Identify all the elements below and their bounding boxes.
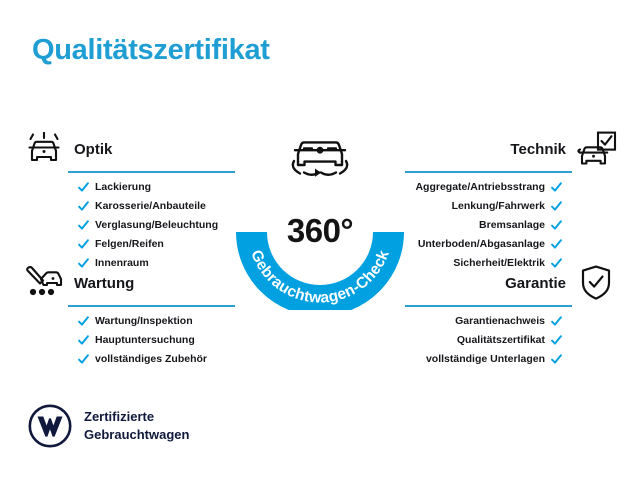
section-technik-divider — [405, 171, 572, 173]
wrench-car-icon — [20, 262, 68, 304]
car-checkbox-icon — [572, 128, 620, 170]
list-item: Unterboden/Abgasanlage — [405, 239, 562, 250]
section-technik-title: Technik — [405, 141, 572, 158]
brand-line-2: Gebrauchtwagen — [84, 427, 189, 442]
list-item: Felgen/Reifen — [78, 239, 235, 250]
section-optik-header: Optik — [20, 128, 235, 170]
list-item-label: Lenkung/Fahrwerk — [452, 201, 545, 212]
section-garantie: Garantie Garantienachweis Qualitätszerti… — [405, 262, 620, 373]
section-optik: Optik Lackierung Karosserie/Anbauteile V… — [20, 128, 235, 277]
list-item: Wartung/Inspektion — [78, 316, 235, 327]
brand-line-1: Zertifizierte — [84, 409, 154, 424]
list-item-label: vollständiges Zubehör — [95, 354, 207, 365]
section-garantie-header: Garantie — [405, 262, 620, 304]
list-item-label: Aggregate/Antriebsstrang — [415, 182, 545, 193]
check-icon — [78, 316, 89, 327]
section-optik-list: Lackierung Karosserie/Anbauteile Verglas… — [20, 182, 235, 269]
badge-number: 360° — [232, 212, 408, 250]
section-garantie-title: Garantie — [405, 275, 572, 292]
section-wartung-divider — [68, 305, 235, 307]
section-technik-list: Aggregate/Antriebsstrang Lenkung/Fahrwer… — [405, 182, 620, 269]
badge-360-gebrauchtwagen-check: Gebrauchtwagen-Check 360° — [232, 120, 408, 310]
check-icon — [78, 335, 89, 346]
vw-logo-icon — [28, 404, 72, 448]
list-item: vollständiges Zubehör — [78, 354, 235, 365]
brand-label: Zertifizierte Gebrauchtwagen — [84, 408, 189, 443]
check-icon — [78, 201, 89, 212]
check-icon — [551, 316, 562, 327]
check-icon — [551, 201, 562, 212]
list-item-label: Wartung/Inspektion — [95, 316, 193, 327]
list-item: Lenkung/Fahrwerk — [405, 201, 562, 212]
section-technik: Technik Aggregate/Antriebsstrang Lenkung… — [405, 128, 620, 277]
list-item: Garantienachweis — [405, 316, 562, 327]
shield-check-icon — [572, 262, 620, 304]
list-item: Aggregate/Antriebsstrang — [405, 182, 562, 193]
list-item: Karosserie/Anbauteile — [78, 201, 235, 212]
section-wartung-title: Wartung — [68, 275, 235, 292]
check-icon — [78, 239, 89, 250]
list-item: Qualitätszertifikat — [405, 335, 562, 346]
section-wartung: Wartung Wartung/Inspektion Hauptuntersuc… — [20, 262, 235, 373]
section-optik-divider — [68, 171, 235, 173]
check-icon — [551, 335, 562, 346]
list-item: Hauptuntersuchung — [78, 335, 235, 346]
list-item-label: Unterboden/Abgasanlage — [418, 239, 545, 250]
list-item-label: Karosserie/Anbauteile — [95, 201, 206, 212]
list-item-label: Verglasung/Beleuchtung — [95, 220, 218, 231]
list-item-label: vollständige Unterlagen — [426, 354, 545, 365]
section-garantie-divider — [405, 305, 572, 307]
check-icon — [551, 354, 562, 365]
check-icon — [551, 239, 562, 250]
check-icon — [551, 220, 562, 231]
section-technik-header: Technik — [405, 128, 620, 170]
section-wartung-header: Wartung — [20, 262, 235, 304]
list-item-label: Felgen/Reifen — [95, 239, 164, 250]
list-item: Verglasung/Beleuchtung — [78, 220, 235, 231]
brand-footer: Zertifizierte Gebrauchtwagen — [28, 404, 189, 448]
list-item-label: Hauptuntersuchung — [95, 335, 195, 346]
page-title: Qualitätszertifikat — [32, 34, 270, 67]
check-icon — [78, 220, 89, 231]
car-shine-icon — [20, 128, 68, 170]
list-item: vollständige Unterlagen — [405, 354, 562, 365]
list-item-label: Lackierung — [95, 182, 151, 193]
list-item: Bremsanlage — [405, 220, 562, 231]
list-item-label: Qualitätszertifikat — [457, 335, 545, 346]
list-item-label: Bremsanlage — [479, 220, 545, 231]
section-wartung-list: Wartung/Inspektion Hauptuntersuchung vol… — [20, 316, 235, 365]
check-icon — [551, 182, 562, 193]
section-optik-title: Optik — [68, 141, 235, 158]
list-item-label: Garantienachweis — [455, 316, 545, 327]
check-icon — [78, 182, 89, 193]
section-garantie-list: Garantienachweis Qualitätszertifikat vol… — [405, 316, 620, 365]
list-item: Lackierung — [78, 182, 235, 193]
check-icon — [78, 354, 89, 365]
